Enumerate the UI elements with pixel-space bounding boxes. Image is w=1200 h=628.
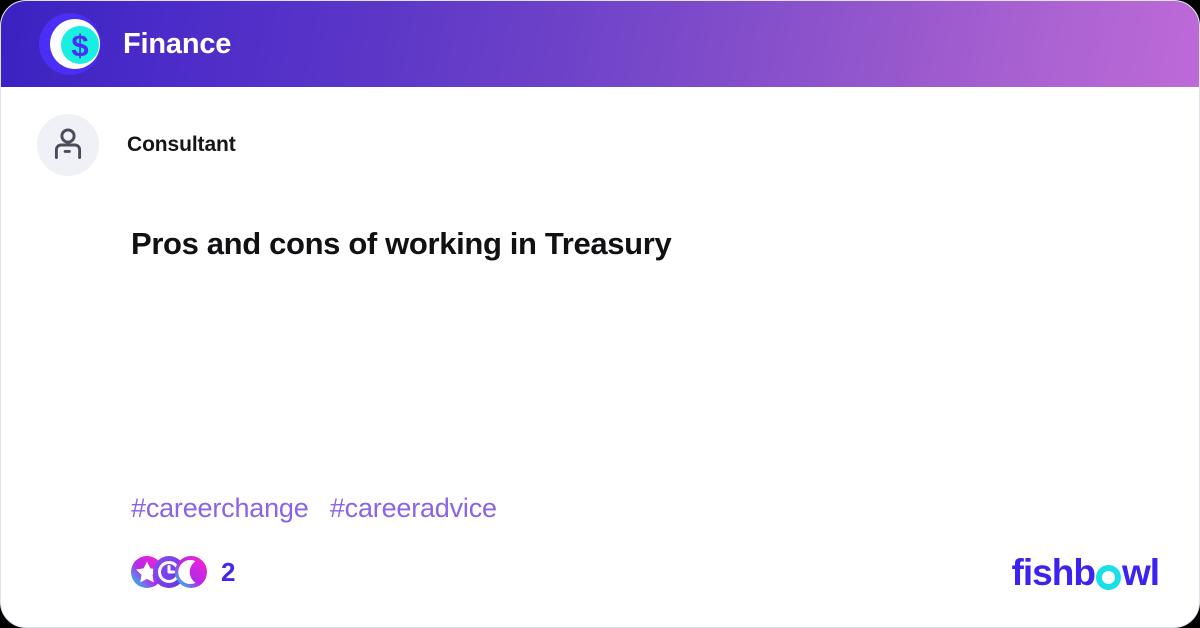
- fishbowl-o-ring-icon: [1096, 565, 1121, 590]
- reactions-group[interactable]: 2: [131, 556, 235, 588]
- svg-text:$: $: [71, 28, 88, 63]
- card-header: $ Finance: [1, 1, 1199, 87]
- page-title: Finance: [123, 28, 231, 61]
- brand-text-after: wl: [1122, 554, 1159, 591]
- avatar: [37, 114, 99, 176]
- finance-bowl-dollar-icon: $: [37, 11, 103, 77]
- author-name: Consultant: [127, 133, 236, 157]
- crescent-reaction-icon[interactable]: [175, 556, 207, 588]
- person-avatar-icon: [51, 126, 85, 165]
- reaction-count: 2: [221, 557, 235, 588]
- post-title: Pros and cons of working in Treasury: [131, 225, 1131, 264]
- brand-text-before: fishb: [1012, 554, 1095, 591]
- card-body: Consultant Pros and cons of working in T…: [1, 87, 1199, 627]
- author-row[interactable]: Consultant: [37, 113, 1163, 177]
- fishbowl-logo: fishb wl: [1012, 554, 1159, 591]
- card-footer: 2 fishb wl: [1, 517, 1199, 627]
- reaction-badges[interactable]: [131, 556, 207, 588]
- post-card: $ Finance Consultant Pros and cons of wo…: [0, 0, 1200, 628]
